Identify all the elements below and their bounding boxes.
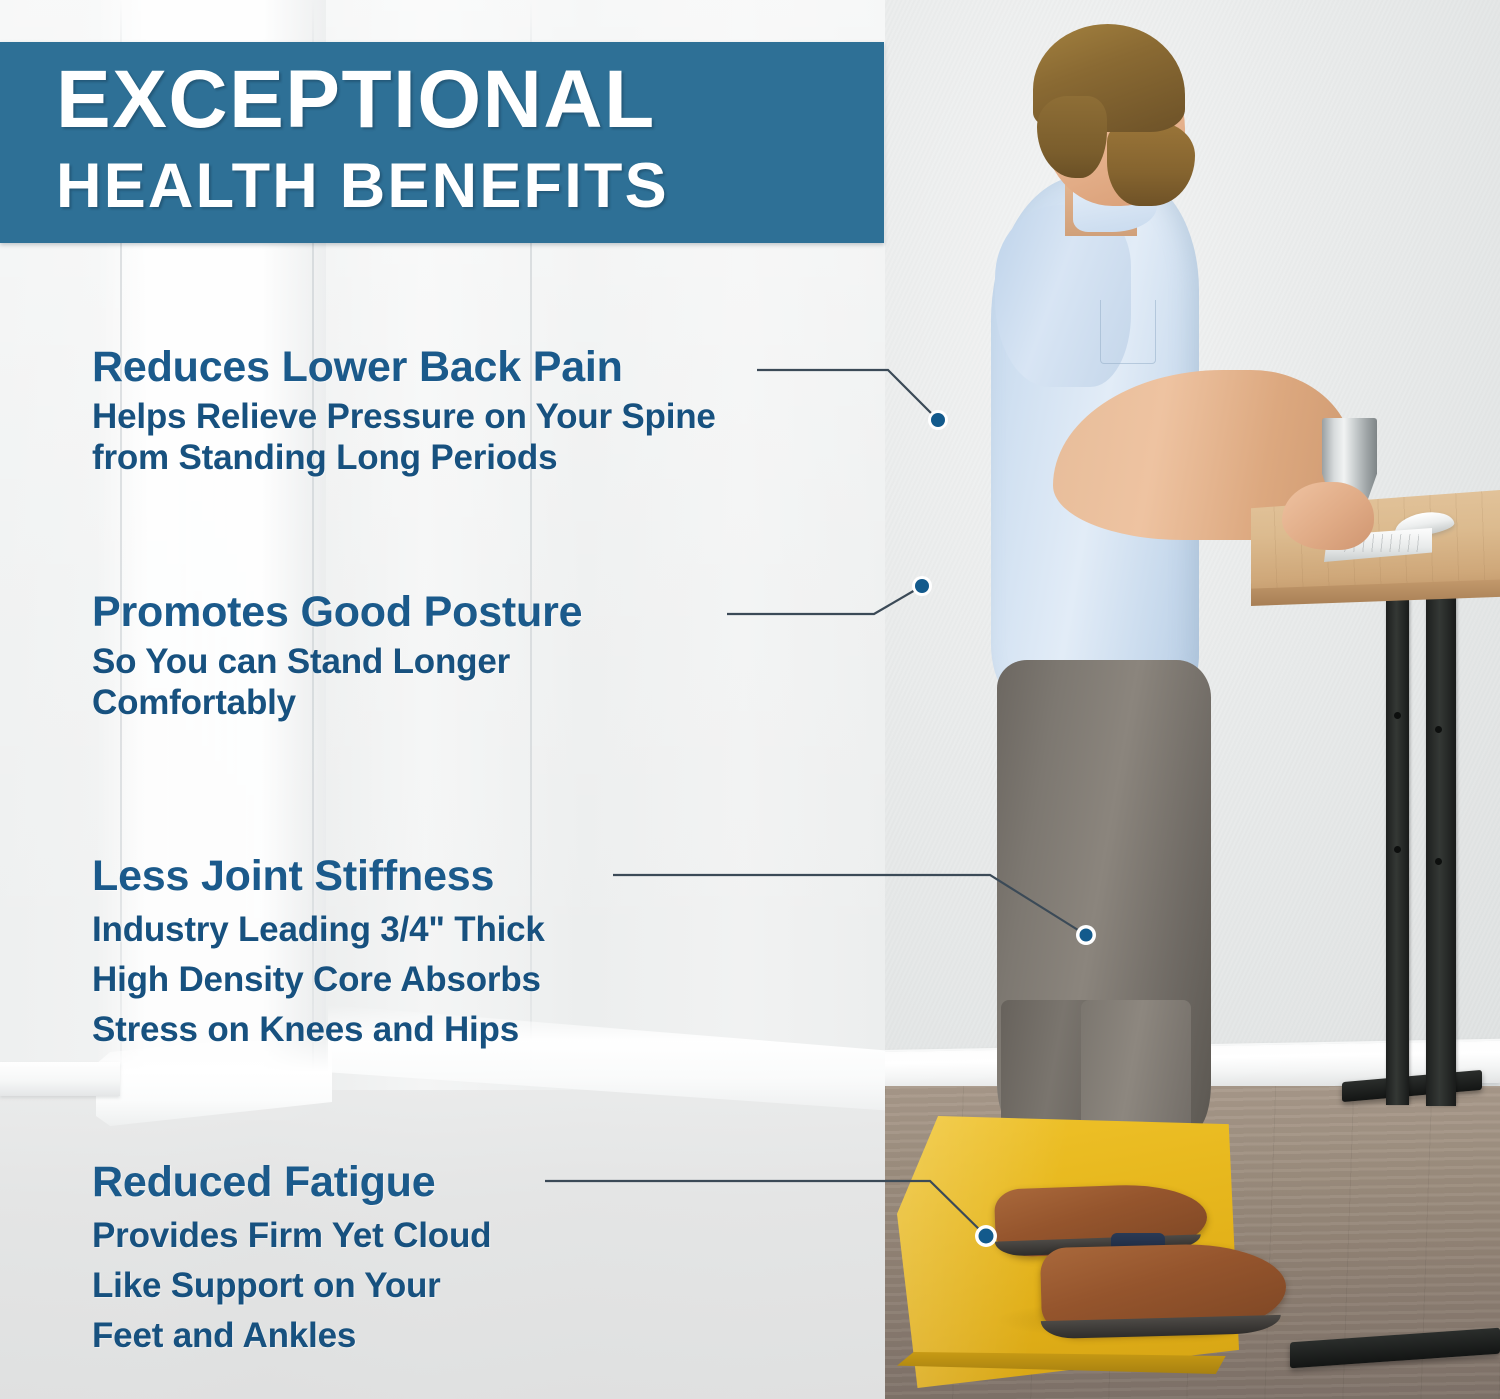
benefit-subtext-line: High Density Core Absorbs xyxy=(92,955,545,1005)
product-photo xyxy=(885,0,1500,1399)
benefit-title: Less Joint Stiffness xyxy=(92,852,545,901)
benefit-block-1: Reduces Lower Back Pain Helps Relieve Pr… xyxy=(92,343,716,478)
shirt-pocket xyxy=(1100,300,1156,364)
beard xyxy=(1107,122,1195,206)
benefit-subtext-line: Comfortably xyxy=(92,682,582,723)
benefit-subtext-line: Industry Leading 3/4" Thick xyxy=(92,905,545,955)
benefit-block-2: Promotes Good Posture So You can Stand L… xyxy=(92,588,582,723)
benefit-title: Reduced Fatigue xyxy=(92,1158,491,1207)
benefit-title: Promotes Good Posture xyxy=(92,588,582,637)
ghost-baseboard-near xyxy=(0,1062,120,1096)
benefit-block-4: Reduced Fatigue Provides Firm Yet Cloud … xyxy=(92,1158,491,1361)
benefit-subtext-line: Stress on Knees and Hips xyxy=(92,1005,545,1055)
benefit-block-3: Less Joint Stiffness Industry Leading 3/… xyxy=(92,852,545,1055)
infographic-root: EXCEPTIONAL HEALTH BENEFITS Reduces Lowe… xyxy=(0,0,1500,1399)
benefit-subtext: Industry Leading 3/4" Thick High Density… xyxy=(92,905,545,1055)
banner-title-line2: HEALTH BENEFITS xyxy=(56,148,884,224)
benefit-subtext-line: Provides Firm Yet Cloud xyxy=(92,1211,491,1261)
benefit-title: Reduces Lower Back Pain xyxy=(92,343,716,392)
benefit-subtext-line: Helps Relieve Pressure on Your Spine xyxy=(92,396,716,437)
hand xyxy=(1282,482,1374,550)
hair-side xyxy=(1037,96,1107,178)
benefit-subtext-line: So You can Stand Longer xyxy=(92,641,582,682)
benefit-subtext-line: Like Support on Your xyxy=(92,1261,491,1311)
benefit-subtext-line: Feet and Ankles xyxy=(92,1311,491,1361)
banner-title-line1: EXCEPTIONAL xyxy=(56,52,884,148)
benefit-subtext-line: from Standing Long Periods xyxy=(92,437,716,478)
benefit-subtext: Helps Relieve Pressure on Your Spine fro… xyxy=(92,396,716,478)
benefit-subtext: Provides Firm Yet Cloud Like Support on … xyxy=(92,1211,491,1361)
header-banner: EXCEPTIONAL HEALTH BENEFITS xyxy=(0,42,884,243)
benefit-subtext: So You can Stand Longer Comfortably xyxy=(92,641,582,723)
